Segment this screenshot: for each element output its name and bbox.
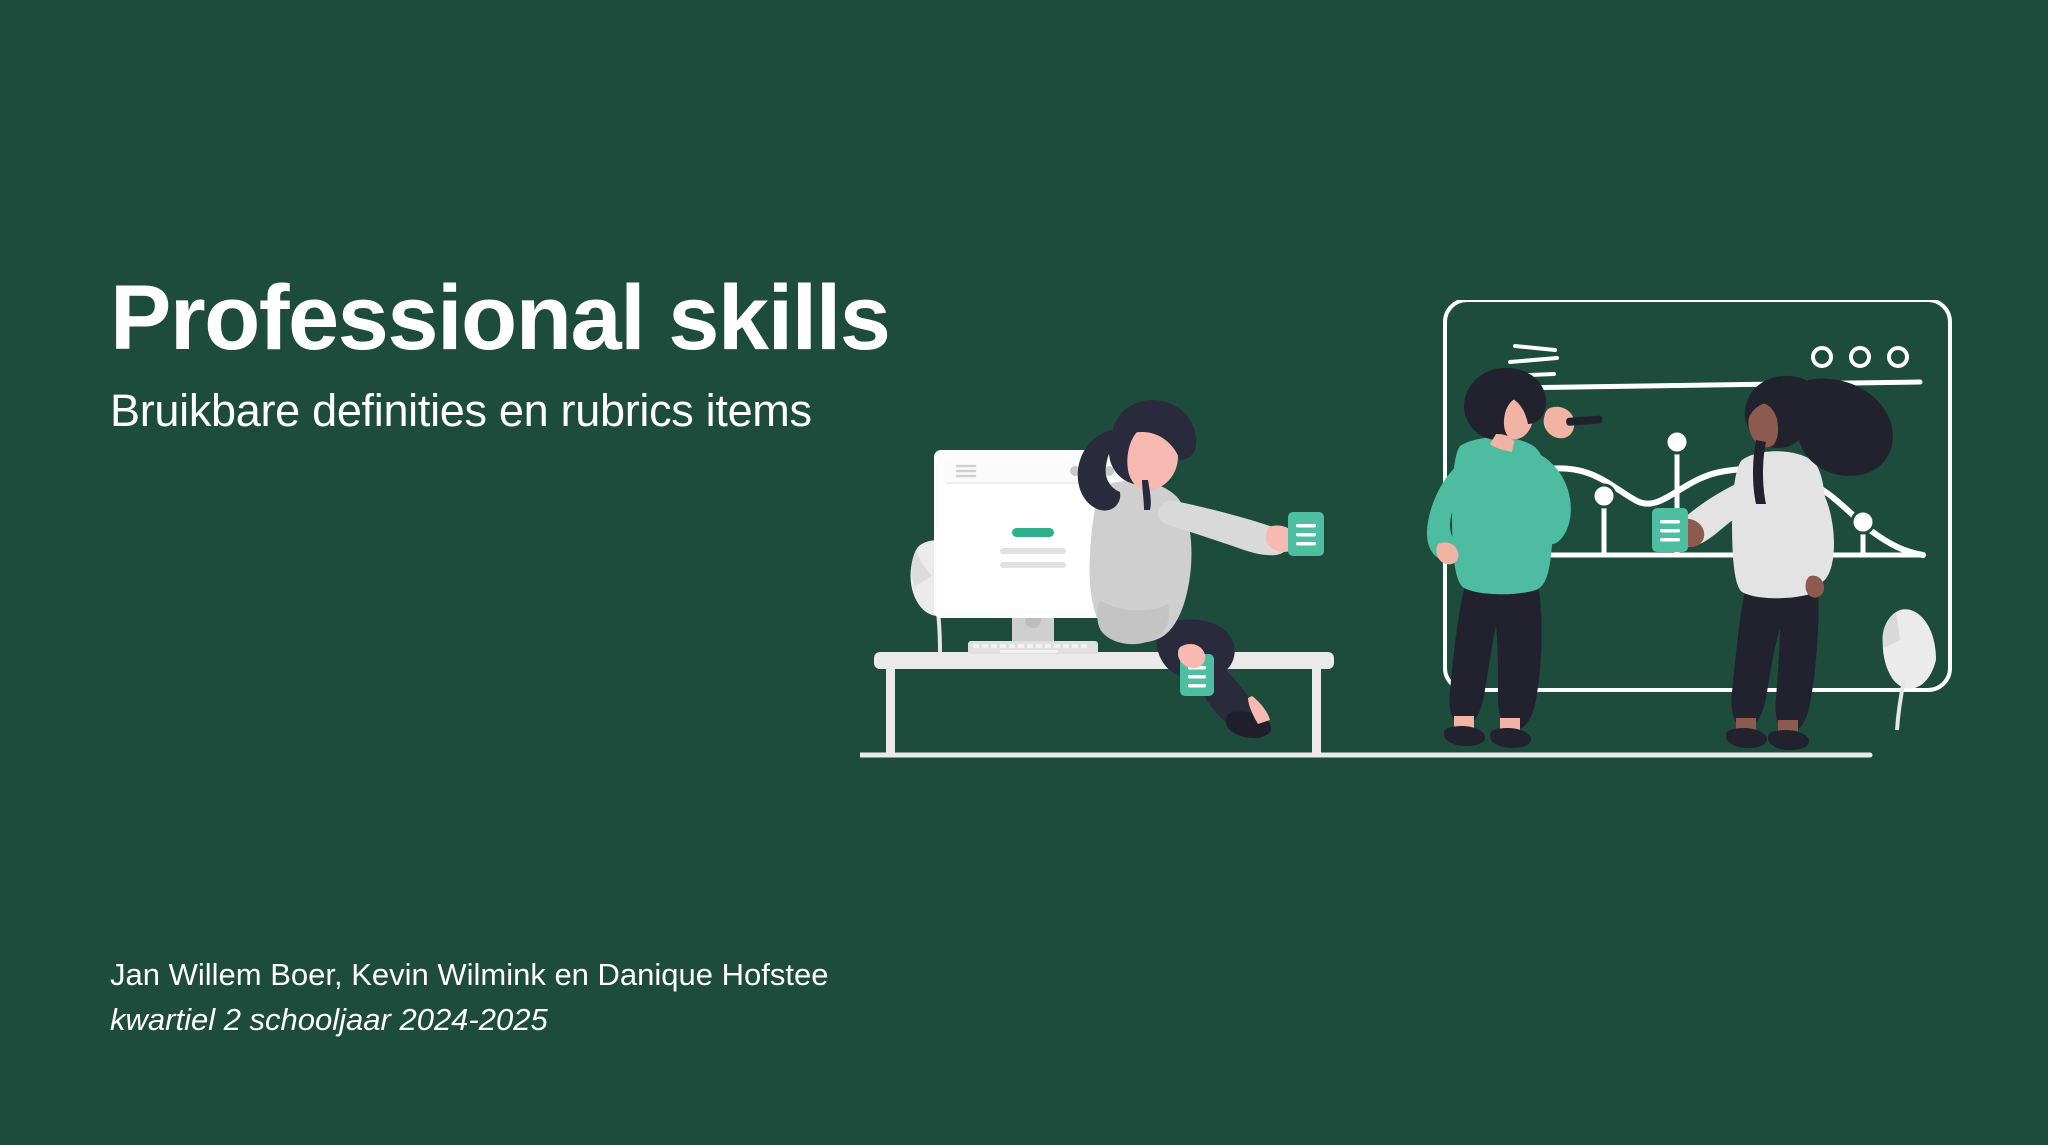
desk-top	[874, 652, 1334, 669]
trousers	[1450, 578, 1542, 731]
desk-workstation	[874, 652, 1334, 755]
teal-sticky-note-held	[1652, 508, 1688, 552]
teal-sticky-note-raised	[1288, 512, 1324, 556]
desk-leg-right	[1312, 669, 1321, 755]
shoe-left	[1726, 728, 1767, 748]
shoe-right	[1768, 730, 1809, 750]
desk-keyboard	[968, 641, 1098, 654]
team-collaboration-illustration	[860, 300, 2000, 900]
screen-text-line-2	[1000, 562, 1066, 568]
presentation-slide: Professional skills Bruikbare definities…	[0, 0, 2048, 1145]
shoe-right	[1490, 728, 1531, 748]
window-dots-icon	[1813, 348, 1907, 366]
screen-text-line-1	[1000, 548, 1066, 554]
desk-leg-left	[886, 669, 895, 755]
standing-woman	[1652, 376, 1893, 750]
floor-plant-leaf	[1883, 609, 1937, 730]
author-names: Jan Willem Boer, Kevin Wilmink en Daniqu…	[110, 955, 1210, 995]
chart-point-5	[1852, 511, 1874, 533]
screen-accent-pill	[1012, 528, 1054, 537]
author-block: Jan Willem Boer, Kevin Wilmink en Daniqu…	[110, 955, 1210, 1041]
chart-point-3	[1666, 431, 1688, 453]
shoe-left	[1444, 726, 1485, 746]
chart-point-2	[1593, 485, 1615, 507]
seated-woman	[1078, 400, 1324, 738]
author-term: kwartiel 2 schooljaar 2024-2025	[110, 1000, 1210, 1040]
trousers	[1732, 580, 1819, 732]
